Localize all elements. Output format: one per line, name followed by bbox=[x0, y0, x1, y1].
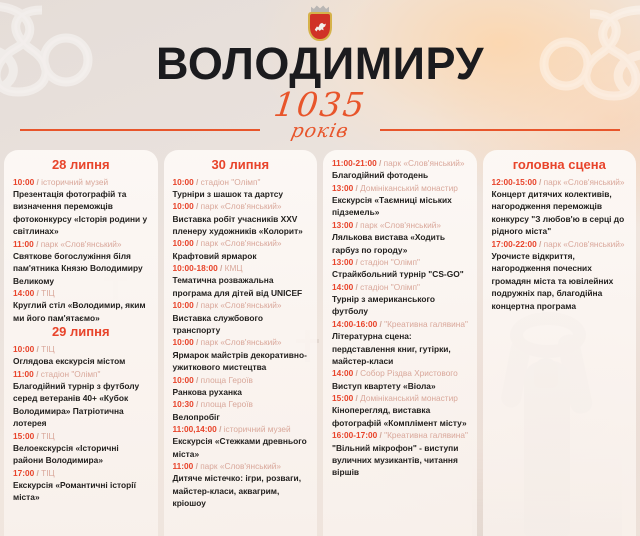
event-meta: 14:00 / Собор Різдва Христового bbox=[332, 367, 468, 379]
event-description: Лялькова вистава «Ходить гарбуз по город… bbox=[332, 231, 468, 256]
event-meta: 10:00-18:00 / КМЦ bbox=[173, 262, 309, 274]
event-description: Виставка службового транспорту bbox=[173, 312, 309, 337]
schedule-columns: 28 липня10:00 / історичний музейПрезента… bbox=[0, 150, 640, 536]
event-meta: 10:00 / історичний музей bbox=[13, 176, 149, 188]
event-time: 10:00 bbox=[13, 344, 34, 354]
event-separator: / bbox=[194, 337, 201, 347]
event-place: парк «Слов'янський» bbox=[200, 461, 281, 471]
event-description: Літературна сцена: пердставлення книг, г… bbox=[332, 330, 468, 367]
event-separator: / bbox=[194, 399, 201, 409]
event-separator: / bbox=[34, 369, 41, 379]
event-time: 11:00 bbox=[13, 239, 34, 249]
event-meta: 17:00 / ТІЦ bbox=[13, 467, 149, 479]
event-place: стадіон "Олімп" bbox=[41, 369, 101, 379]
event-time: 12:00-15:00 bbox=[492, 177, 537, 187]
event-time: 10:00 bbox=[173, 201, 194, 211]
schedule-card-title: головна сцена bbox=[492, 157, 628, 173]
schedule-card-2: 11:00-21:00 / парк «Слов'янський»Благоді… bbox=[323, 150, 477, 536]
event-separator: / bbox=[194, 300, 201, 310]
event-place: парк «Слов'янський» bbox=[544, 177, 625, 187]
event-time: 17:00-22:00 bbox=[492, 239, 537, 249]
schedule-card-title: 28 липня bbox=[13, 157, 149, 173]
event-time: 15:00 bbox=[13, 431, 34, 441]
event-meta: 15:00 / Домініканський монастир bbox=[332, 392, 468, 404]
event-place: стадіон "Олімп" bbox=[360, 282, 420, 292]
event-separator: / bbox=[194, 238, 201, 248]
event-description: Страйкбольний турнір "CS-GO" bbox=[332, 268, 468, 280]
anniversary-unit: років bbox=[0, 122, 640, 141]
event-place: "Креативна галявина" bbox=[384, 319, 468, 329]
event-separator: / bbox=[34, 239, 41, 249]
event-time: 11:00 bbox=[173, 461, 194, 471]
event-separator: / bbox=[218, 263, 225, 273]
event-time: 10:00 bbox=[173, 375, 194, 385]
event-place: ТІЦ bbox=[41, 468, 55, 478]
schedule-card-3: головна сцена12:00-15:00 / парк «Слов'ян… bbox=[483, 150, 637, 536]
event-time: 14:00 bbox=[332, 368, 353, 378]
event-meta: 10:00 / парк «Слов'янський» bbox=[173, 336, 309, 348]
event-meta: 11:00 / парк «Слов'янський» bbox=[13, 238, 149, 250]
event-meta: 13:00 / стадіон "Олімп" bbox=[332, 256, 468, 268]
event-meta: 10:00 / ТІЦ bbox=[13, 343, 149, 355]
event-place: ТІЦ bbox=[41, 288, 55, 298]
event-place: парк «Слов'янський» bbox=[360, 220, 441, 230]
event-place: Собор Різдва Христового bbox=[360, 368, 458, 378]
anniversary-label: 1035 років bbox=[0, 88, 640, 141]
event-place: ТІЦ bbox=[41, 431, 55, 441]
event-meta: 11:00,14:00 / історичний музей bbox=[173, 423, 309, 435]
event-place: парк «Слов'янський» bbox=[201, 300, 282, 310]
event-description: Турніри з шашок та дартсу bbox=[173, 188, 309, 200]
schedule-card-title: 29 липня bbox=[13, 324, 149, 340]
event-place: КМЦ bbox=[225, 263, 243, 273]
event-description: Турнір з американського футболу bbox=[332, 293, 468, 318]
event-time: 14:00-16:00 bbox=[332, 319, 377, 329]
event-separator: / bbox=[217, 424, 224, 434]
poster-background: ВОЛОДИМИРУ 1035 років 28 липня10:00 / іс… bbox=[0, 0, 640, 536]
event-description: Виставка робіт учасників XXV пленеру худ… bbox=[173, 213, 309, 238]
anniversary-number: 1035 bbox=[0, 88, 640, 121]
event-separator: / bbox=[194, 201, 201, 211]
event-description: Круглий стіл «Володимир, яким ми його па… bbox=[13, 299, 149, 324]
schedule-card-title: 30 липня bbox=[173, 157, 309, 173]
poster-header: ВОЛОДИМИРУ 1035 років bbox=[0, 0, 640, 150]
event-time: 17:00 bbox=[13, 468, 34, 478]
event-place: стадіон "Олімп" bbox=[201, 177, 261, 187]
event-meta: 10:00 / парк «Слов'янський» bbox=[173, 237, 309, 249]
event-time: 10:30 bbox=[173, 399, 194, 409]
event-time: 10:00 bbox=[173, 337, 194, 347]
event-description: Тематична розважальна програма для дітей… bbox=[173, 274, 309, 299]
event-description: Велоекскурсія «Історичні райони Володими… bbox=[13, 442, 149, 467]
page-title: ВОЛОДИМИРУ bbox=[0, 38, 640, 90]
event-meta: 10:00 / парк «Слов'янський» bbox=[173, 299, 309, 311]
event-time: 13:00 bbox=[332, 183, 353, 193]
event-description: Дитяче містечко: ігри, розваги, майстер-… bbox=[173, 472, 309, 509]
event-place: парк «Слов'янський» bbox=[384, 158, 465, 168]
event-separator: / bbox=[537, 239, 544, 249]
event-place: парк «Слов'янський» bbox=[201, 201, 282, 211]
event-place: площа Героїв bbox=[201, 375, 253, 385]
event-description: Ярмарок майстрів декоративно-ужиткового … bbox=[173, 349, 309, 374]
event-separator: / bbox=[194, 375, 201, 385]
event-time: 10:00 bbox=[173, 300, 194, 310]
event-description: Презентація фотографій та визначення пер… bbox=[13, 188, 149, 238]
event-meta: 14:00-16:00 / "Креативна галявина" bbox=[332, 318, 468, 330]
event-place: стадіон "Олімп" bbox=[360, 257, 420, 267]
event-meta: 14:00 / ТІЦ bbox=[13, 287, 149, 299]
schedule-card-1: 30 липня10:00 / стадіон "Олімп"Турніри з… bbox=[164, 150, 318, 536]
event-meta: 10:00 / парк «Слов'янський» bbox=[173, 200, 309, 212]
event-place: "Креативна галявина" bbox=[384, 430, 468, 440]
event-description: Благодійний фотодень bbox=[332, 169, 468, 181]
event-separator: / bbox=[537, 177, 544, 187]
event-description: Виступ квартету «Віола» bbox=[332, 380, 468, 392]
event-time: 11:00 bbox=[13, 369, 34, 379]
event-meta: 16:00-17:00 / "Креативна галявина" bbox=[332, 429, 468, 441]
event-time: 11:00-21:00 bbox=[332, 158, 377, 168]
event-time: 16:00-17:00 bbox=[332, 430, 377, 440]
event-separator: / bbox=[194, 177, 201, 187]
event-description: Святкове богослужіння біля пам'ятника Кн… bbox=[13, 250, 149, 287]
event-place: ТІЦ bbox=[41, 344, 55, 354]
event-time: 10:00 bbox=[13, 177, 34, 187]
event-meta: 13:00 / парк «Слов'янський» bbox=[332, 219, 468, 231]
event-description: Ранкова руханка bbox=[173, 386, 309, 398]
event-meta: 13:00 / Домініканський монастир bbox=[332, 182, 468, 194]
event-description: "Вільний мікрофон" - виступи вуличних му… bbox=[332, 442, 468, 479]
event-time: 13:00 bbox=[332, 220, 353, 230]
event-description: Екскурсія «Романтичні історії міста» bbox=[13, 479, 149, 504]
schedule-card-0: 28 липня10:00 / історичний музейПрезента… bbox=[4, 150, 158, 536]
event-time: 11:00,14:00 bbox=[173, 424, 217, 434]
event-description: Урочисте відкриття, нагородження почесни… bbox=[492, 250, 628, 312]
event-meta: 10:00 / площа Героїв bbox=[173, 374, 309, 386]
event-description: Благодійний турнір з футболу серед ветер… bbox=[13, 380, 149, 430]
event-place: Домініканський монастир bbox=[360, 183, 458, 193]
event-time: 10:00 bbox=[173, 177, 194, 187]
event-place: парк «Слов'янський» bbox=[201, 337, 282, 347]
event-description: Екскурсія «Стежками древнього міста» bbox=[173, 435, 309, 460]
event-description: Концерт дитячих колективів, нагородження… bbox=[492, 188, 628, 238]
event-time: 14:00 bbox=[332, 282, 353, 292]
event-meta: 11:00 / парк «Слов'янський» bbox=[173, 460, 309, 472]
event-time: 13:00 bbox=[332, 257, 353, 267]
event-meta: 11:00 / стадіон "Олімп" bbox=[13, 368, 149, 380]
event-time: 15:00 bbox=[332, 393, 353, 403]
divider-line-right bbox=[380, 129, 620, 131]
event-place: парк «Слов'янський» bbox=[41, 239, 122, 249]
event-description: Крафтовий ярмарок bbox=[173, 250, 309, 262]
event-description: Оглядова екскурсія містом bbox=[13, 355, 149, 367]
divider-line-left bbox=[20, 129, 260, 131]
event-time: 10:00 bbox=[173, 238, 194, 248]
event-description: Велопробіг bbox=[173, 411, 309, 423]
event-meta: 10:30 / площа Героїв bbox=[173, 398, 309, 410]
event-time: 14:00 bbox=[13, 288, 34, 298]
event-meta: 10:00 / стадіон "Олімп" bbox=[173, 176, 309, 188]
event-place: Домініканський монастир bbox=[360, 393, 458, 403]
event-place: парк «Слов'янський» bbox=[201, 238, 282, 248]
event-description: Екскурсія «Таємниці міських підземель» bbox=[332, 194, 468, 219]
event-meta: 12:00-15:00 / парк «Слов'янський» bbox=[492, 176, 628, 188]
event-place: площа Героїв bbox=[201, 399, 253, 409]
event-description: Кіноперегляд, виставка фотографій «Компл… bbox=[332, 404, 468, 429]
event-meta: 15:00 / ТІЦ bbox=[13, 430, 149, 442]
event-time: 10:00-18:00 bbox=[173, 263, 218, 273]
event-meta: 17:00-22:00 / парк «Слов'янський» bbox=[492, 238, 628, 250]
event-place: парк «Слов'янський» bbox=[544, 239, 625, 249]
event-meta: 14:00 / стадіон "Олімп" bbox=[332, 281, 468, 293]
event-place: історичний музей bbox=[41, 177, 108, 187]
event-place: історичний музей bbox=[224, 424, 291, 434]
event-meta: 11:00-21:00 / парк «Слов'янський» bbox=[332, 157, 468, 169]
event-separator: / bbox=[377, 158, 384, 168]
